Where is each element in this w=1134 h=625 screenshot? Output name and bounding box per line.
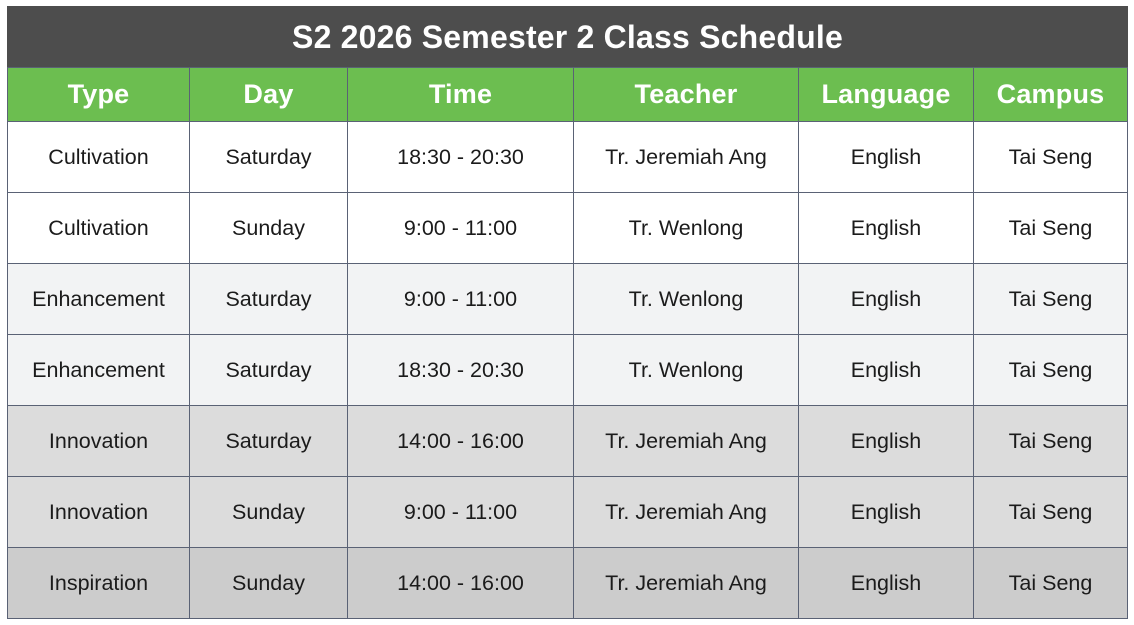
table-row: InnovationSunday9:00 - 11:00Tr. Jeremiah… [8,477,1128,548]
cell-time: 18:30 - 20:30 [348,122,574,193]
cell-type: Innovation [8,477,190,548]
column-header-type[interactable]: Type [8,68,190,122]
table-row: InspirationSunday14:00 - 16:00Tr. Jeremi… [8,548,1128,619]
cell-language: English [799,264,974,335]
schedule-screen: S2 2026 Semester 2 Class Schedule TypeDa… [0,0,1134,625]
cell-day: Saturday [190,264,348,335]
cell-type: Innovation [8,406,190,477]
cell-time: 9:00 - 11:00 [348,193,574,264]
title-row: S2 2026 Semester 2 Class Schedule [8,7,1128,68]
cell-campus: Tai Seng [974,548,1128,619]
cell-day: Saturday [190,335,348,406]
cell-language: English [799,477,974,548]
cell-language: English [799,122,974,193]
cell-time: 9:00 - 11:00 [348,477,574,548]
cell-language: English [799,193,974,264]
cell-teacher: Tr. Wenlong [574,193,799,264]
cell-time: 14:00 - 16:00 [348,406,574,477]
cell-language: English [799,335,974,406]
schedule-title: S2 2026 Semester 2 Class Schedule [8,7,1128,68]
cell-time: 18:30 - 20:30 [348,335,574,406]
cell-type: Cultivation [8,122,190,193]
cell-campus: Tai Seng [974,406,1128,477]
cell-teacher: Tr. Wenlong [574,335,799,406]
table-head: S2 2026 Semester 2 Class Schedule TypeDa… [8,7,1128,122]
cell-day: Sunday [190,477,348,548]
table-row: EnhancementSaturday18:30 - 20:30Tr. Wenl… [8,335,1128,406]
cell-time: 14:00 - 16:00 [348,548,574,619]
cell-type: Inspiration [8,548,190,619]
cell-campus: Tai Seng [974,193,1128,264]
cell-campus: Tai Seng [974,477,1128,548]
cell-campus: Tai Seng [974,264,1128,335]
table-row: CultivationSaturday18:30 - 20:30Tr. Jere… [8,122,1128,193]
cell-day: Saturday [190,406,348,477]
table-body: CultivationSaturday18:30 - 20:30Tr. Jere… [8,122,1128,619]
cell-teacher: Tr. Jeremiah Ang [574,548,799,619]
cell-teacher: Tr. Wenlong [574,264,799,335]
cell-type: Enhancement [8,264,190,335]
table-row: EnhancementSaturday9:00 - 11:00Tr. Wenlo… [8,264,1128,335]
class-schedule-table: S2 2026 Semester 2 Class Schedule TypeDa… [7,6,1128,619]
cell-time: 9:00 - 11:00 [348,264,574,335]
column-header-campus[interactable]: Campus [974,68,1128,122]
cell-type: Enhancement [8,335,190,406]
cell-type: Cultivation [8,193,190,264]
column-header-day[interactable]: Day [190,68,348,122]
cell-day: Sunday [190,193,348,264]
cell-teacher: Tr. Jeremiah Ang [574,406,799,477]
cell-campus: Tai Seng [974,335,1128,406]
cell-day: Saturday [190,122,348,193]
table-row: InnovationSaturday14:00 - 16:00Tr. Jerem… [8,406,1128,477]
column-header-teacher[interactable]: Teacher [574,68,799,122]
cell-campus: Tai Seng [974,122,1128,193]
cell-language: English [799,406,974,477]
table-row: CultivationSunday9:00 - 11:00Tr. Wenlong… [8,193,1128,264]
cell-language: English [799,548,974,619]
cell-teacher: Tr. Jeremiah Ang [574,122,799,193]
column-header-row: TypeDayTimeTeacherLanguageCampus [8,68,1128,122]
schedule-table-wrapper: S2 2026 Semester 2 Class Schedule TypeDa… [7,6,1127,619]
column-header-language[interactable]: Language [799,68,974,122]
cell-teacher: Tr. Jeremiah Ang [574,477,799,548]
column-header-time[interactable]: Time [348,68,574,122]
cell-day: Sunday [190,548,348,619]
